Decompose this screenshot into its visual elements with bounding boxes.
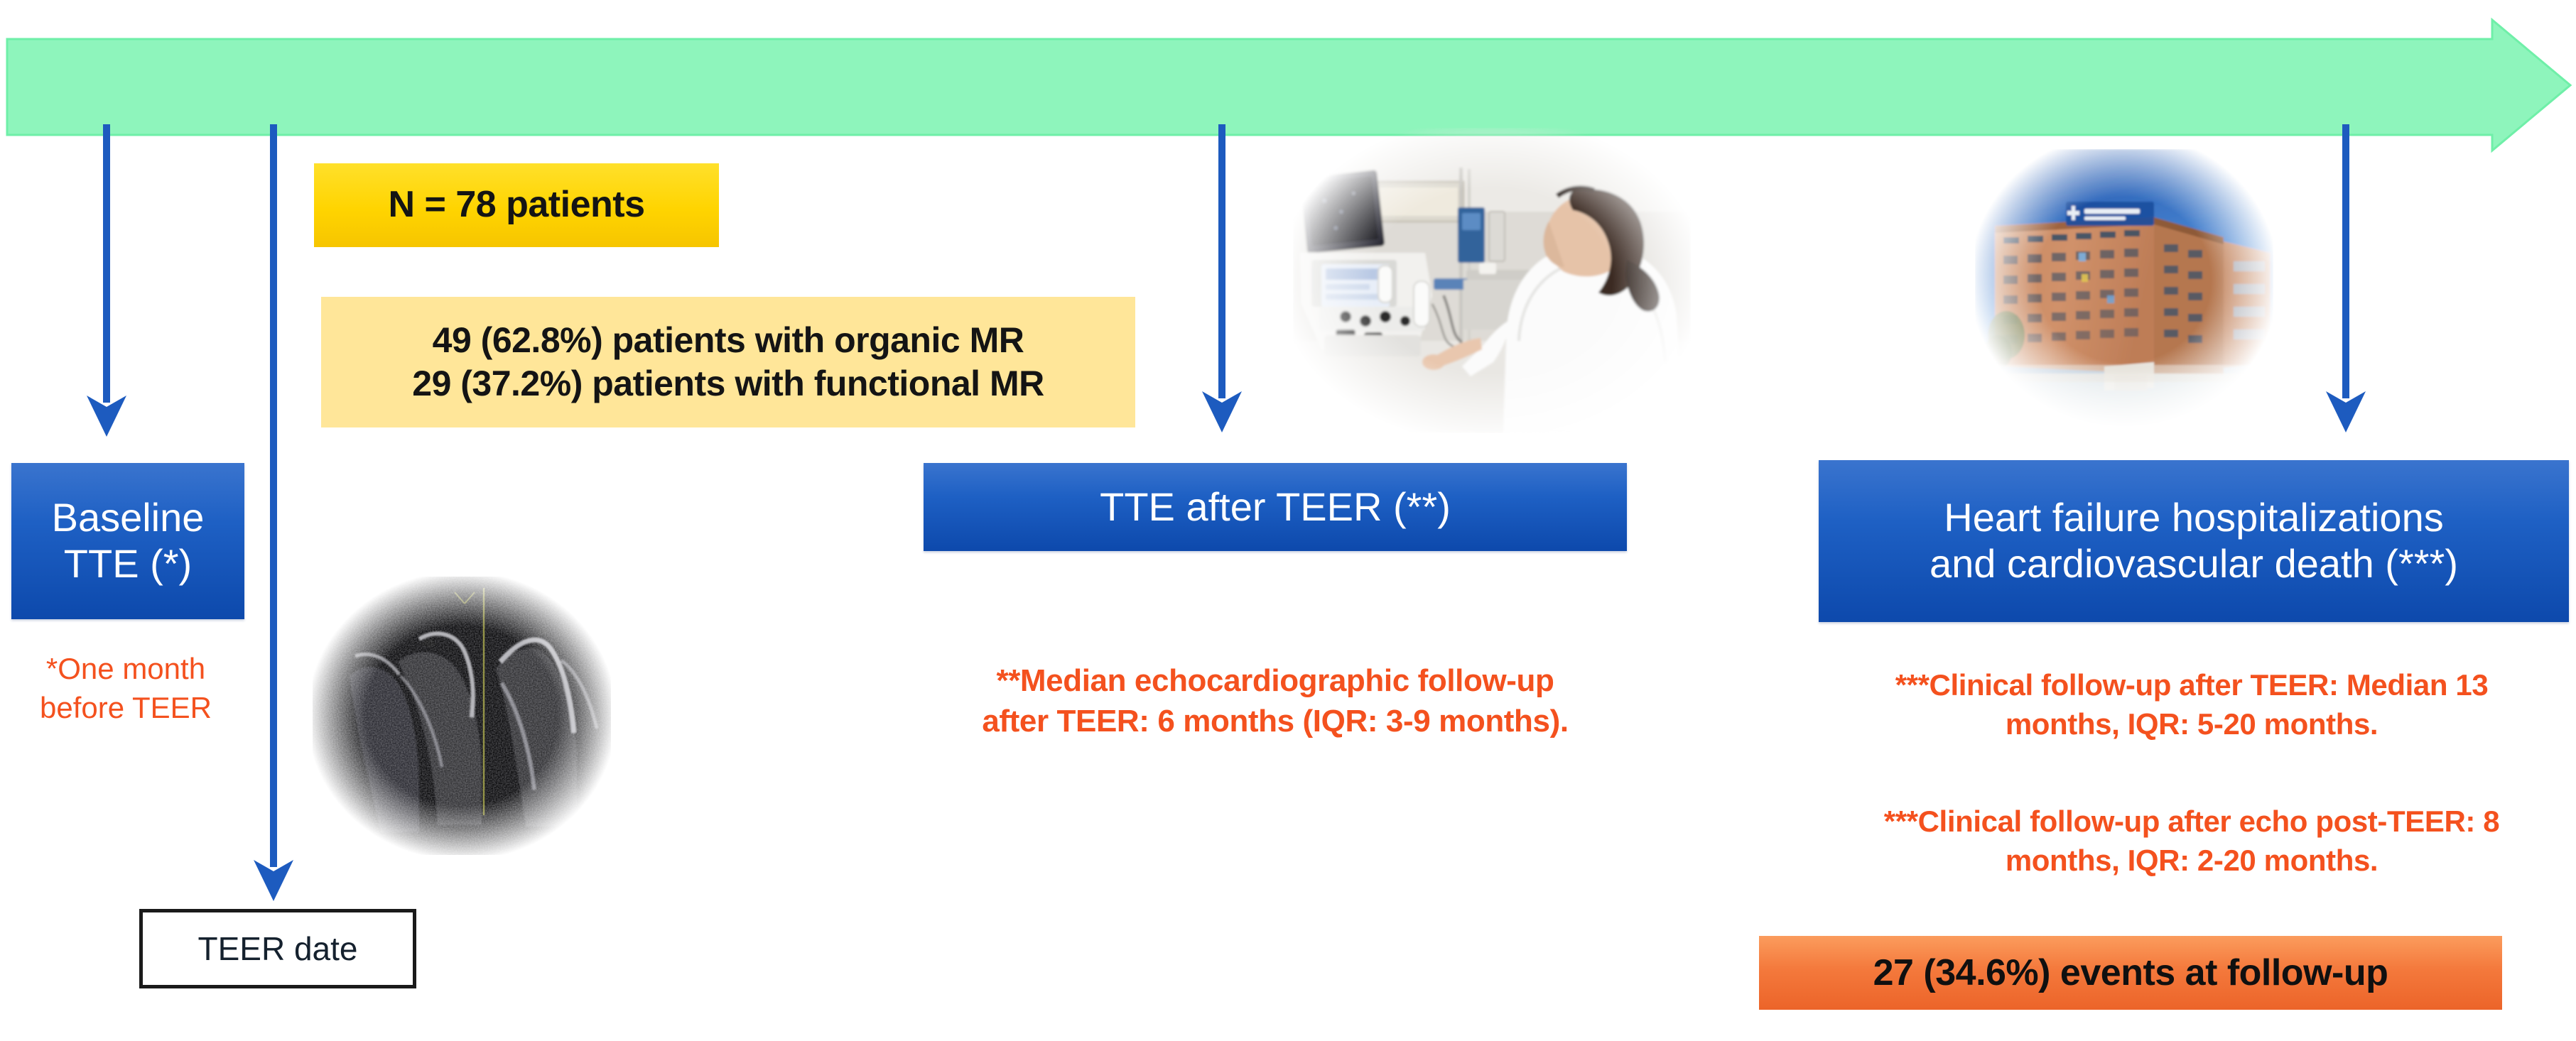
baseline-note: *One month before TEER [9, 650, 243, 727]
cohort-total-box: N = 78 patients [314, 163, 719, 247]
connector-arrow-teer-date [241, 124, 306, 909]
timeline-arrow-shape [7, 20, 2570, 151]
echocardiogram-image [313, 577, 611, 855]
sonographer-image [1293, 128, 1691, 433]
outcomes-note-clinical-followup: ***Clinical follow-up after TEER: Median… [1826, 666, 2558, 743]
outcomes-note-echo-followup: ***Clinical follow-up after echo post-TE… [1826, 802, 2558, 880]
outcomes-note-b-line1: ***Clinical follow-up after echo post-TE… [1826, 802, 2558, 841]
baseline-note-line2: before TEER [9, 689, 243, 728]
stage-box-baseline-tte: Baseline TTE (*) [11, 463, 244, 619]
outcomes-note-a-line2: months, IQR: 5-20 months. [1826, 705, 2558, 744]
baseline-title-line1: Baseline [52, 495, 205, 541]
stage-box-outcomes: Heart failure hospitalizations and cardi… [1819, 460, 2569, 622]
outcomes-title-line1: Heart failure hospitalizations [1944, 495, 2443, 541]
teer-date-label: TEER date [198, 930, 358, 968]
cohort-breakdown-box: 49 (62.8%) patients with organic MR 29 (… [321, 297, 1135, 427]
outcomes-events-label: 27 (34.6%) events at follow-up [1873, 952, 2388, 994]
tte-after-note-line1: **Median echocardiographic follow-up [916, 660, 1634, 701]
connector-arrow-tte-after [1189, 124, 1255, 440]
outcomes-title-line2: and cardiovascular death (***) [1930, 541, 2458, 587]
tte-after-note-line2: after TEER: 6 months (IQR: 3-9 months). [916, 701, 1634, 741]
figure-canvas: N = 78 patients 49 (62.8%) patients with… [0, 0, 2576, 1041]
outcomes-note-b-line2: months, IQR: 2-20 months. [1826, 841, 2558, 881]
outcomes-note-a-line1: ***Clinical follow-up after TEER: Median… [1826, 666, 2558, 705]
stage-box-teer-date: TEER date [139, 909, 416, 988]
outcomes-events-box: 27 (34.6%) events at follow-up [1759, 936, 2502, 1010]
cohort-breakdown-functional: 29 (37.2%) patients with functional MR [412, 362, 1044, 405]
stage-box-tte-after-teer: TTE after TEER (**) [924, 463, 1627, 551]
connector-arrow-baseline [74, 124, 139, 444]
tte-after-note: **Median echocardiographic follow-up aft… [916, 660, 1634, 741]
connector-arrow-outcomes [2313, 124, 2379, 440]
cohort-breakdown-organic: 49 (62.8%) patients with organic MR [433, 319, 1024, 362]
cohort-total-label: N = 78 patients [389, 182, 645, 227]
baseline-note-line1: *One month [9, 650, 243, 689]
baseline-title-line2: TTE (*) [64, 541, 192, 587]
tte-after-title: TTE after TEER (**) [1087, 484, 1463, 530]
hospital-image [1975, 149, 2273, 433]
